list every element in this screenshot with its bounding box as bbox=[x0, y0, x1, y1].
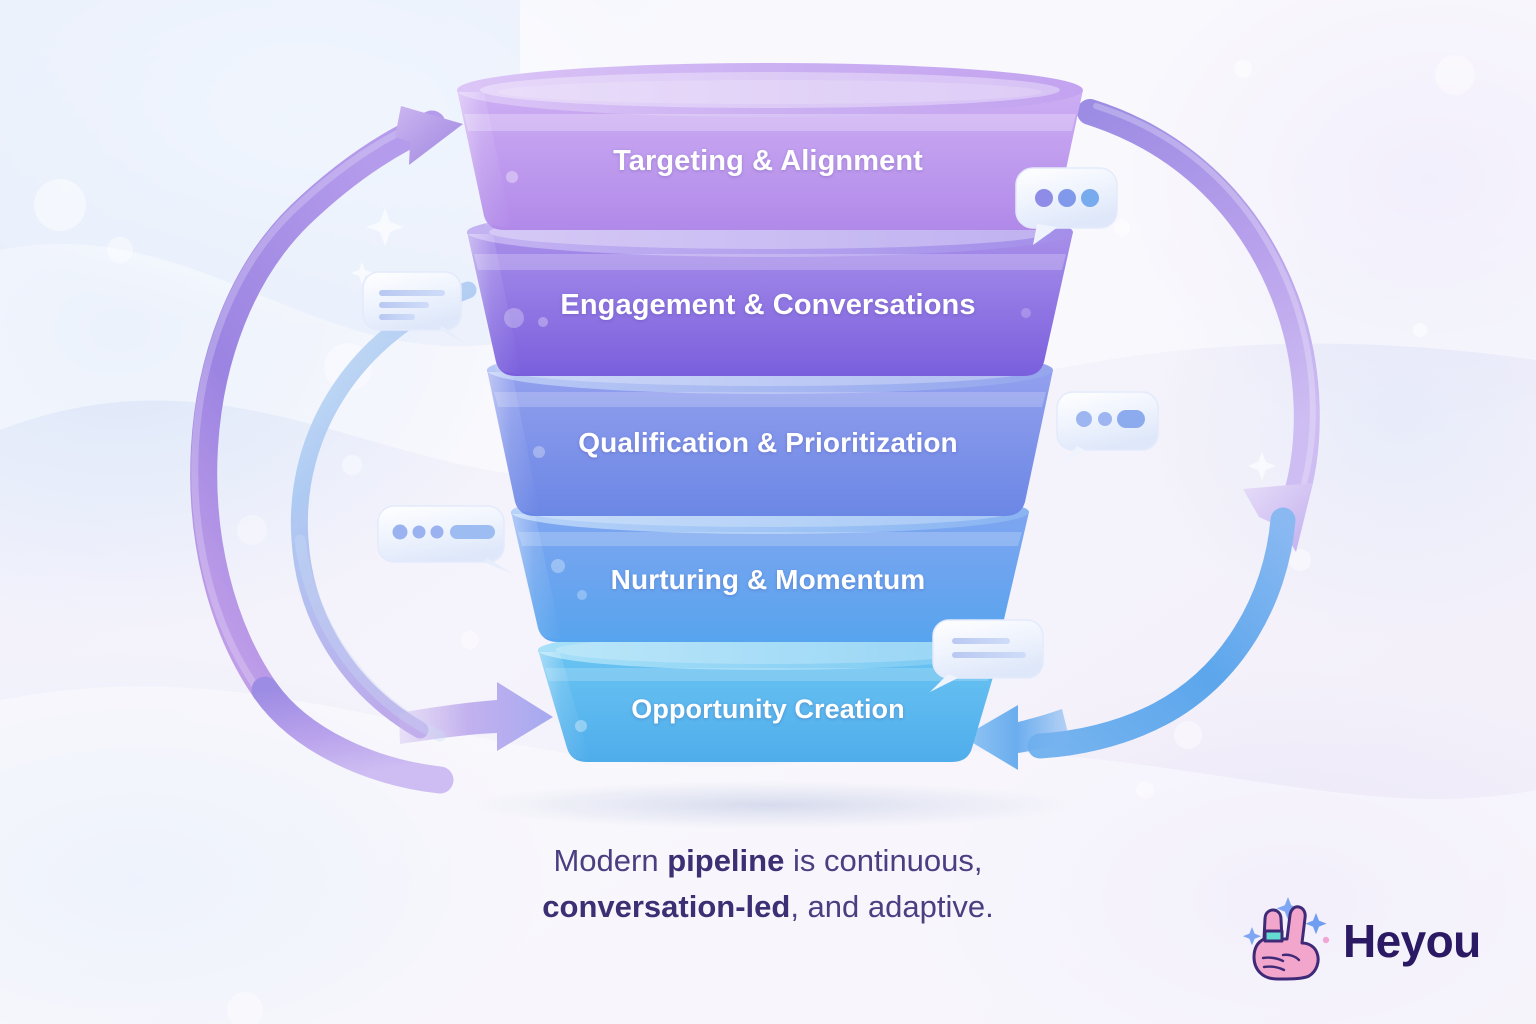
caption-bold2: conversation-led bbox=[542, 889, 790, 924]
bubble-upper-left bbox=[363, 272, 466, 344]
bubble-bottom-right bbox=[930, 620, 1043, 692]
caption-part3: , and adaptive. bbox=[790, 889, 993, 924]
brand-logo[interactable]: Heyou bbox=[1243, 895, 1481, 986]
peace-hand-icon bbox=[1243, 895, 1333, 986]
hand-shape bbox=[1254, 907, 1318, 979]
caption-bold1: pipeline bbox=[667, 843, 784, 878]
logo-wordmark: Heyou bbox=[1343, 918, 1481, 964]
caption-part1: Modern bbox=[553, 843, 667, 878]
caption-part2: is continuous, bbox=[784, 843, 982, 878]
bubble-mid-right bbox=[1057, 392, 1158, 464]
bubble-top-right bbox=[1016, 168, 1117, 245]
bubble-lower-left bbox=[378, 506, 513, 574]
infographic-canvas: Targeting & Alignment Engagement & Conve… bbox=[0, 0, 1536, 1024]
